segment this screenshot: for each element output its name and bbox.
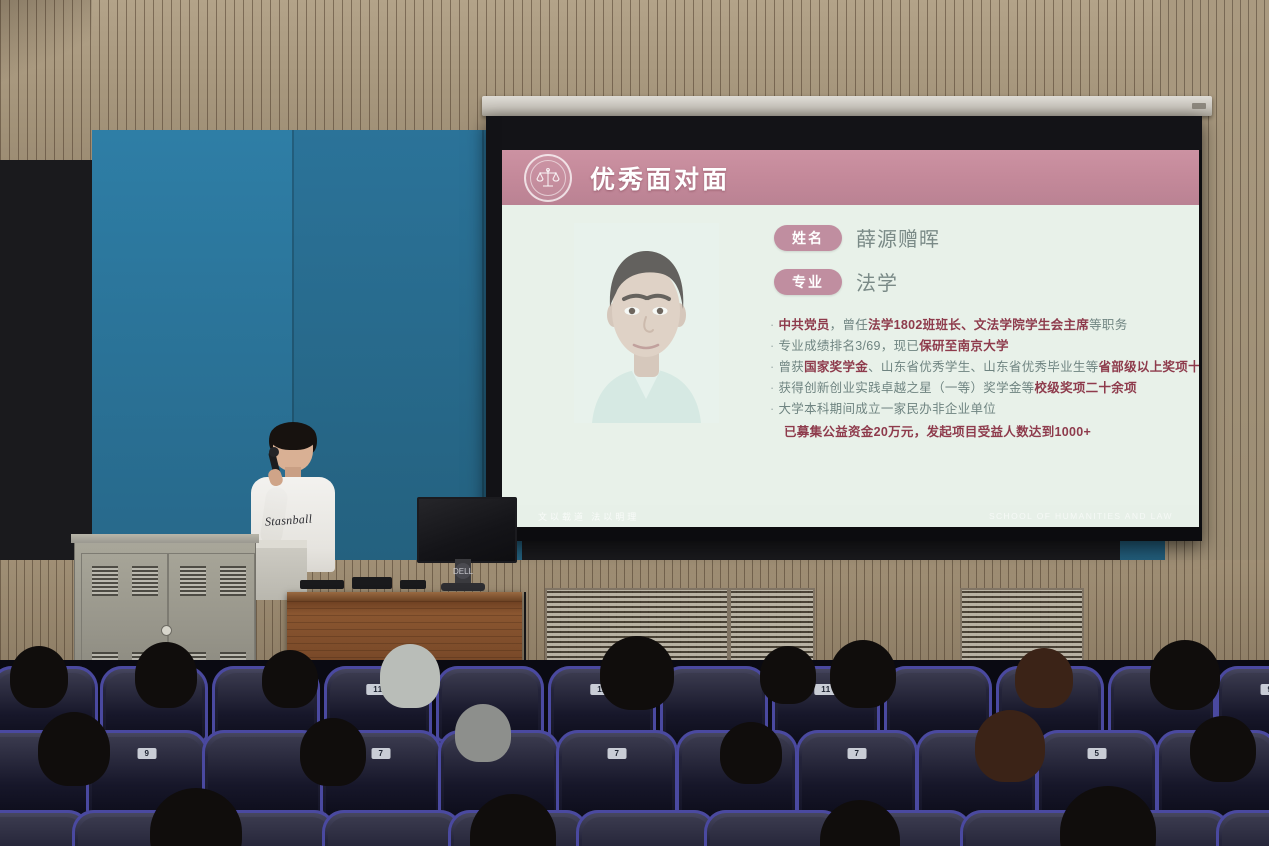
- field-value-name: 薛源赠晖: [856, 223, 940, 252]
- seat-number-label: 7: [848, 748, 867, 759]
- slide-bullet-3: ·曾获国家奖学金、山东省优秀学生、山东省优秀毕业生等省部级以上奖项十余项: [770, 357, 1190, 378]
- portrait-photo: [574, 223, 719, 423]
- bullet-highlight: 保研至南京大学: [919, 339, 1009, 353]
- auditorium-seat: [576, 810, 716, 846]
- desk-equipment: [300, 580, 344, 589]
- slide-bullet-1: ·中共党员，曾任法学1802班班长、文法学院学生会主席等职务: [770, 315, 1190, 336]
- audience-member-head: [135, 642, 197, 708]
- bullet-dot-icon: ·: [770, 402, 774, 416]
- seat-number-label: 9: [1261, 684, 1269, 695]
- bullet-text: 大学本科期间成立一家民办非企业单位: [778, 402, 996, 416]
- desk-equipment: [400, 580, 426, 589]
- podium-top-edge: [287, 592, 522, 601]
- screen-dark-border-bottom: [486, 527, 1202, 541]
- slide-footer-bar: 文以载道 法以明理 SCHOOL OF HUMANITIES AND LAW: [502, 505, 1199, 527]
- audience-member-head: [380, 644, 440, 708]
- audience-member-head: [600, 636, 674, 710]
- seat-number-label: 9: [138, 748, 157, 759]
- bullet-text: ，曾任: [830, 318, 868, 332]
- projector-screen-housing: [482, 96, 1212, 116]
- bullet-highlight: 省部级以上奖项十余项: [1099, 360, 1200, 374]
- computer-monitor: DELL: [417, 497, 513, 593]
- field-label-major: 专业: [774, 269, 842, 295]
- cabinet-lock-icon: [161, 625, 172, 636]
- audience-seating-area: 131111119997775: [0, 660, 1269, 846]
- cabinet-vent: [220, 566, 246, 596]
- lecture-hall-photo: 优秀面对面: [0, 0, 1269, 846]
- bullet-text: 、山东省优秀学生、山东省优秀毕业生等: [868, 360, 1098, 374]
- footer-motto: 文以载道 法以明理: [538, 510, 639, 523]
- slide-bullet-list: ·中共党员，曾任法学1802班班长、文法学院学生会主席等职务·专业成绩排名3/6…: [770, 315, 1190, 443]
- presentation-slide: 优秀面对面: [502, 150, 1199, 527]
- bullet-text: 获得创新创业实践卓越之星（一等）奖学金等: [778, 381, 1034, 395]
- scales-of-justice-emblem-icon: [524, 154, 572, 202]
- cabinet-vent: [132, 566, 158, 596]
- footer-english-name: SCHOOL OF HUMANITIES AND LAW: [989, 511, 1173, 521]
- seat-number-label: 5: [1088, 748, 1107, 759]
- seat-number-label: 7: [608, 748, 627, 759]
- bullet-highlight: 国家奖学金: [804, 360, 868, 374]
- audience-member-head: [975, 710, 1045, 782]
- screen-housing-endcap: [1192, 103, 1206, 109]
- dell-logo-icon: DELL: [455, 563, 471, 579]
- bullet-dot-icon: ·: [770, 360, 774, 374]
- slide-bullet-2: ·专业成绩排名3/69，现已保研至南京大学: [770, 336, 1190, 357]
- speaker-hair: [270, 422, 316, 450]
- seat-cushion: [1222, 817, 1269, 846]
- cabinet-top-cap: [71, 534, 259, 543]
- cabinet-vent: [180, 566, 206, 596]
- slide-bullet-sub: 已募集公益资金20万元，发起项目受益人数达到1000+: [770, 422, 1190, 443]
- slide-title: 优秀面对面: [590, 160, 730, 196]
- seat-cushion: [582, 817, 710, 846]
- screen-dark-border-left: [486, 116, 502, 541]
- slide-bullet-4: ·获得创新创业实践卓越之星（一等）奖学金等校级奖项二十余项: [770, 378, 1190, 399]
- bullet-dot-icon: ·: [770, 318, 774, 332]
- desk-equipment: [352, 577, 392, 589]
- cabinet-vent: [92, 566, 118, 596]
- screen-dark-border-top: [486, 116, 1202, 150]
- audience-member-head: [720, 722, 782, 784]
- slide-header-bar: 优秀面对面: [502, 150, 1199, 205]
- seat-cushion: [328, 817, 456, 846]
- bullet-text: 曾获: [778, 360, 804, 374]
- audience-member-head: [10, 646, 68, 708]
- panel-seam: [482, 130, 484, 560]
- projection-screen: 优秀面对面: [486, 116, 1202, 541]
- monitor-screen: [417, 497, 517, 563]
- bullet-dot-icon: ·: [770, 381, 774, 395]
- wall-shadow-diagonal: [0, 0, 92, 110]
- audience-member-head: [38, 712, 110, 786]
- audience-member-head: [1190, 716, 1256, 782]
- auditorium-seat: [322, 810, 462, 846]
- auditorium-seat: 7: [556, 730, 678, 816]
- bullet-highlight: 中共党员: [778, 318, 829, 332]
- field-value-major: 法学: [856, 267, 898, 296]
- seat-number-label: 7: [372, 748, 391, 759]
- monitor-base: [441, 583, 485, 591]
- audience-member-head: [1150, 640, 1220, 710]
- seat-cushion: [710, 817, 838, 846]
- microphone-head-icon: [269, 447, 279, 457]
- slide-bullet-5: ·大学本科期间成立一家民办非企业单位: [770, 399, 1190, 420]
- audience-member-head: [262, 650, 318, 708]
- slide-body: 姓名 薛源赠晖 专业 法学 ·中共党员，曾任法学1802班班长、文法学院学生会主…: [502, 205, 1199, 505]
- field-row-major: 专业 法学: [774, 267, 898, 296]
- auditorium-seat: [1216, 810, 1269, 846]
- audience-member-head: [830, 640, 896, 708]
- field-row-name: 姓名 薛源赠晖: [774, 223, 940, 252]
- bullet-highlight: 法学1802班班长、文法学院学生会主席: [868, 318, 1089, 332]
- field-label-name: 姓名: [774, 225, 842, 251]
- audience-member-head: [760, 646, 816, 704]
- bullet-text: 等职务: [1089, 318, 1127, 332]
- bullet-dot-icon: ·: [770, 339, 774, 353]
- audience-member-head: [300, 718, 366, 786]
- bullet-highlight: 校级奖项二十余项: [1034, 381, 1136, 395]
- bullet-text: 专业成绩排名3/69，现已: [778, 339, 919, 353]
- audience-member-head: [455, 704, 511, 762]
- audience-member-head: [1015, 648, 1073, 708]
